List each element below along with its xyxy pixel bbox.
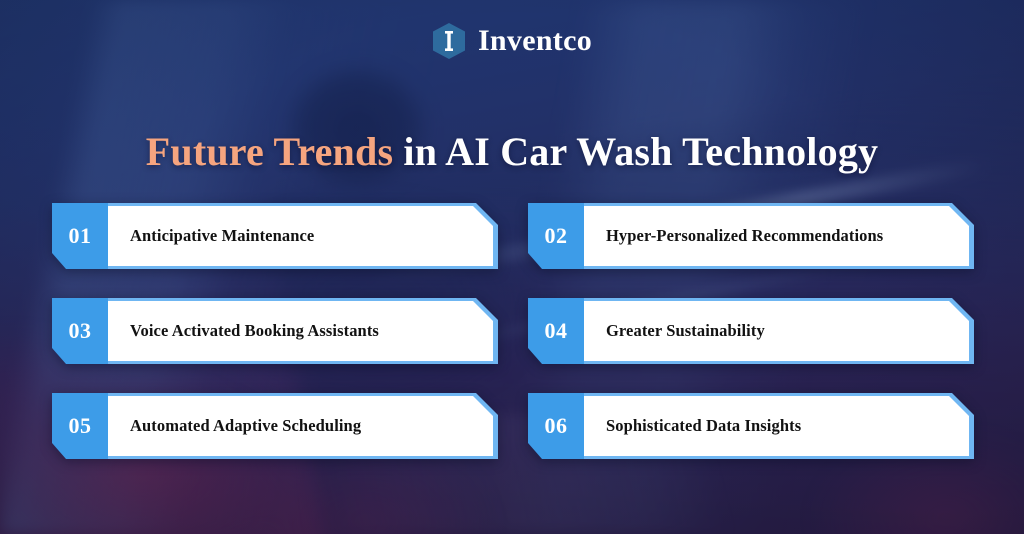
infographic-slide: Inventco Future Trends in AI Car Wash Te…: [0, 0, 1024, 534]
item-number-badge: 05: [52, 393, 108, 459]
item-label: Hyper-Personalized Recommendations: [606, 226, 883, 246]
list-item[interactable]: 03 Voice Activated Booking Assistants: [52, 301, 496, 361]
list-item[interactable]: 06 Sophisticated Data Insights: [528, 396, 972, 456]
item-label: Greater Sustainability: [606, 321, 765, 341]
item-number-badge: 02: [528, 203, 584, 269]
item-body: Automated Adaptive Scheduling: [108, 396, 493, 456]
item-number-badge: 03: [52, 298, 108, 364]
item-body: Sophisticated Data Insights: [584, 396, 969, 456]
list-item[interactable]: 05 Automated Adaptive Scheduling: [52, 396, 496, 456]
title-accent: Future Trends: [146, 129, 393, 174]
brand-name: Inventco: [478, 26, 592, 56]
list-item[interactable]: 02 Hyper-Personalized Recommendations: [528, 206, 972, 266]
item-label: Anticipative Maintenance: [130, 226, 314, 246]
brand-logo: Inventco: [0, 22, 1024, 60]
list-item[interactable]: 04 Greater Sustainability: [528, 301, 972, 361]
item-label: Voice Activated Booking Assistants: [130, 321, 379, 341]
item-number-badge: 01: [52, 203, 108, 269]
item-body: Voice Activated Booking Assistants: [108, 301, 493, 361]
slide-content: Inventco Future Trends in AI Car Wash Te…: [0, 0, 1024, 534]
item-label: Sophisticated Data Insights: [606, 416, 801, 436]
page-title: Future Trends in AI Car Wash Technology: [0, 130, 1024, 175]
item-body: Anticipative Maintenance: [108, 206, 493, 266]
item-number-badge: 04: [528, 298, 584, 364]
hexagon-i-logo-icon: [432, 22, 466, 60]
trends-list: 01 Anticipative Maintenance 02 Hyper-Per…: [52, 206, 972, 456]
item-label: Automated Adaptive Scheduling: [130, 416, 361, 436]
title-rest: in AI Car Wash Technology: [393, 129, 878, 174]
item-body: Hyper-Personalized Recommendations: [584, 206, 969, 266]
item-number-badge: 06: [528, 393, 584, 459]
list-item[interactable]: 01 Anticipative Maintenance: [52, 206, 496, 266]
item-body: Greater Sustainability: [584, 301, 969, 361]
